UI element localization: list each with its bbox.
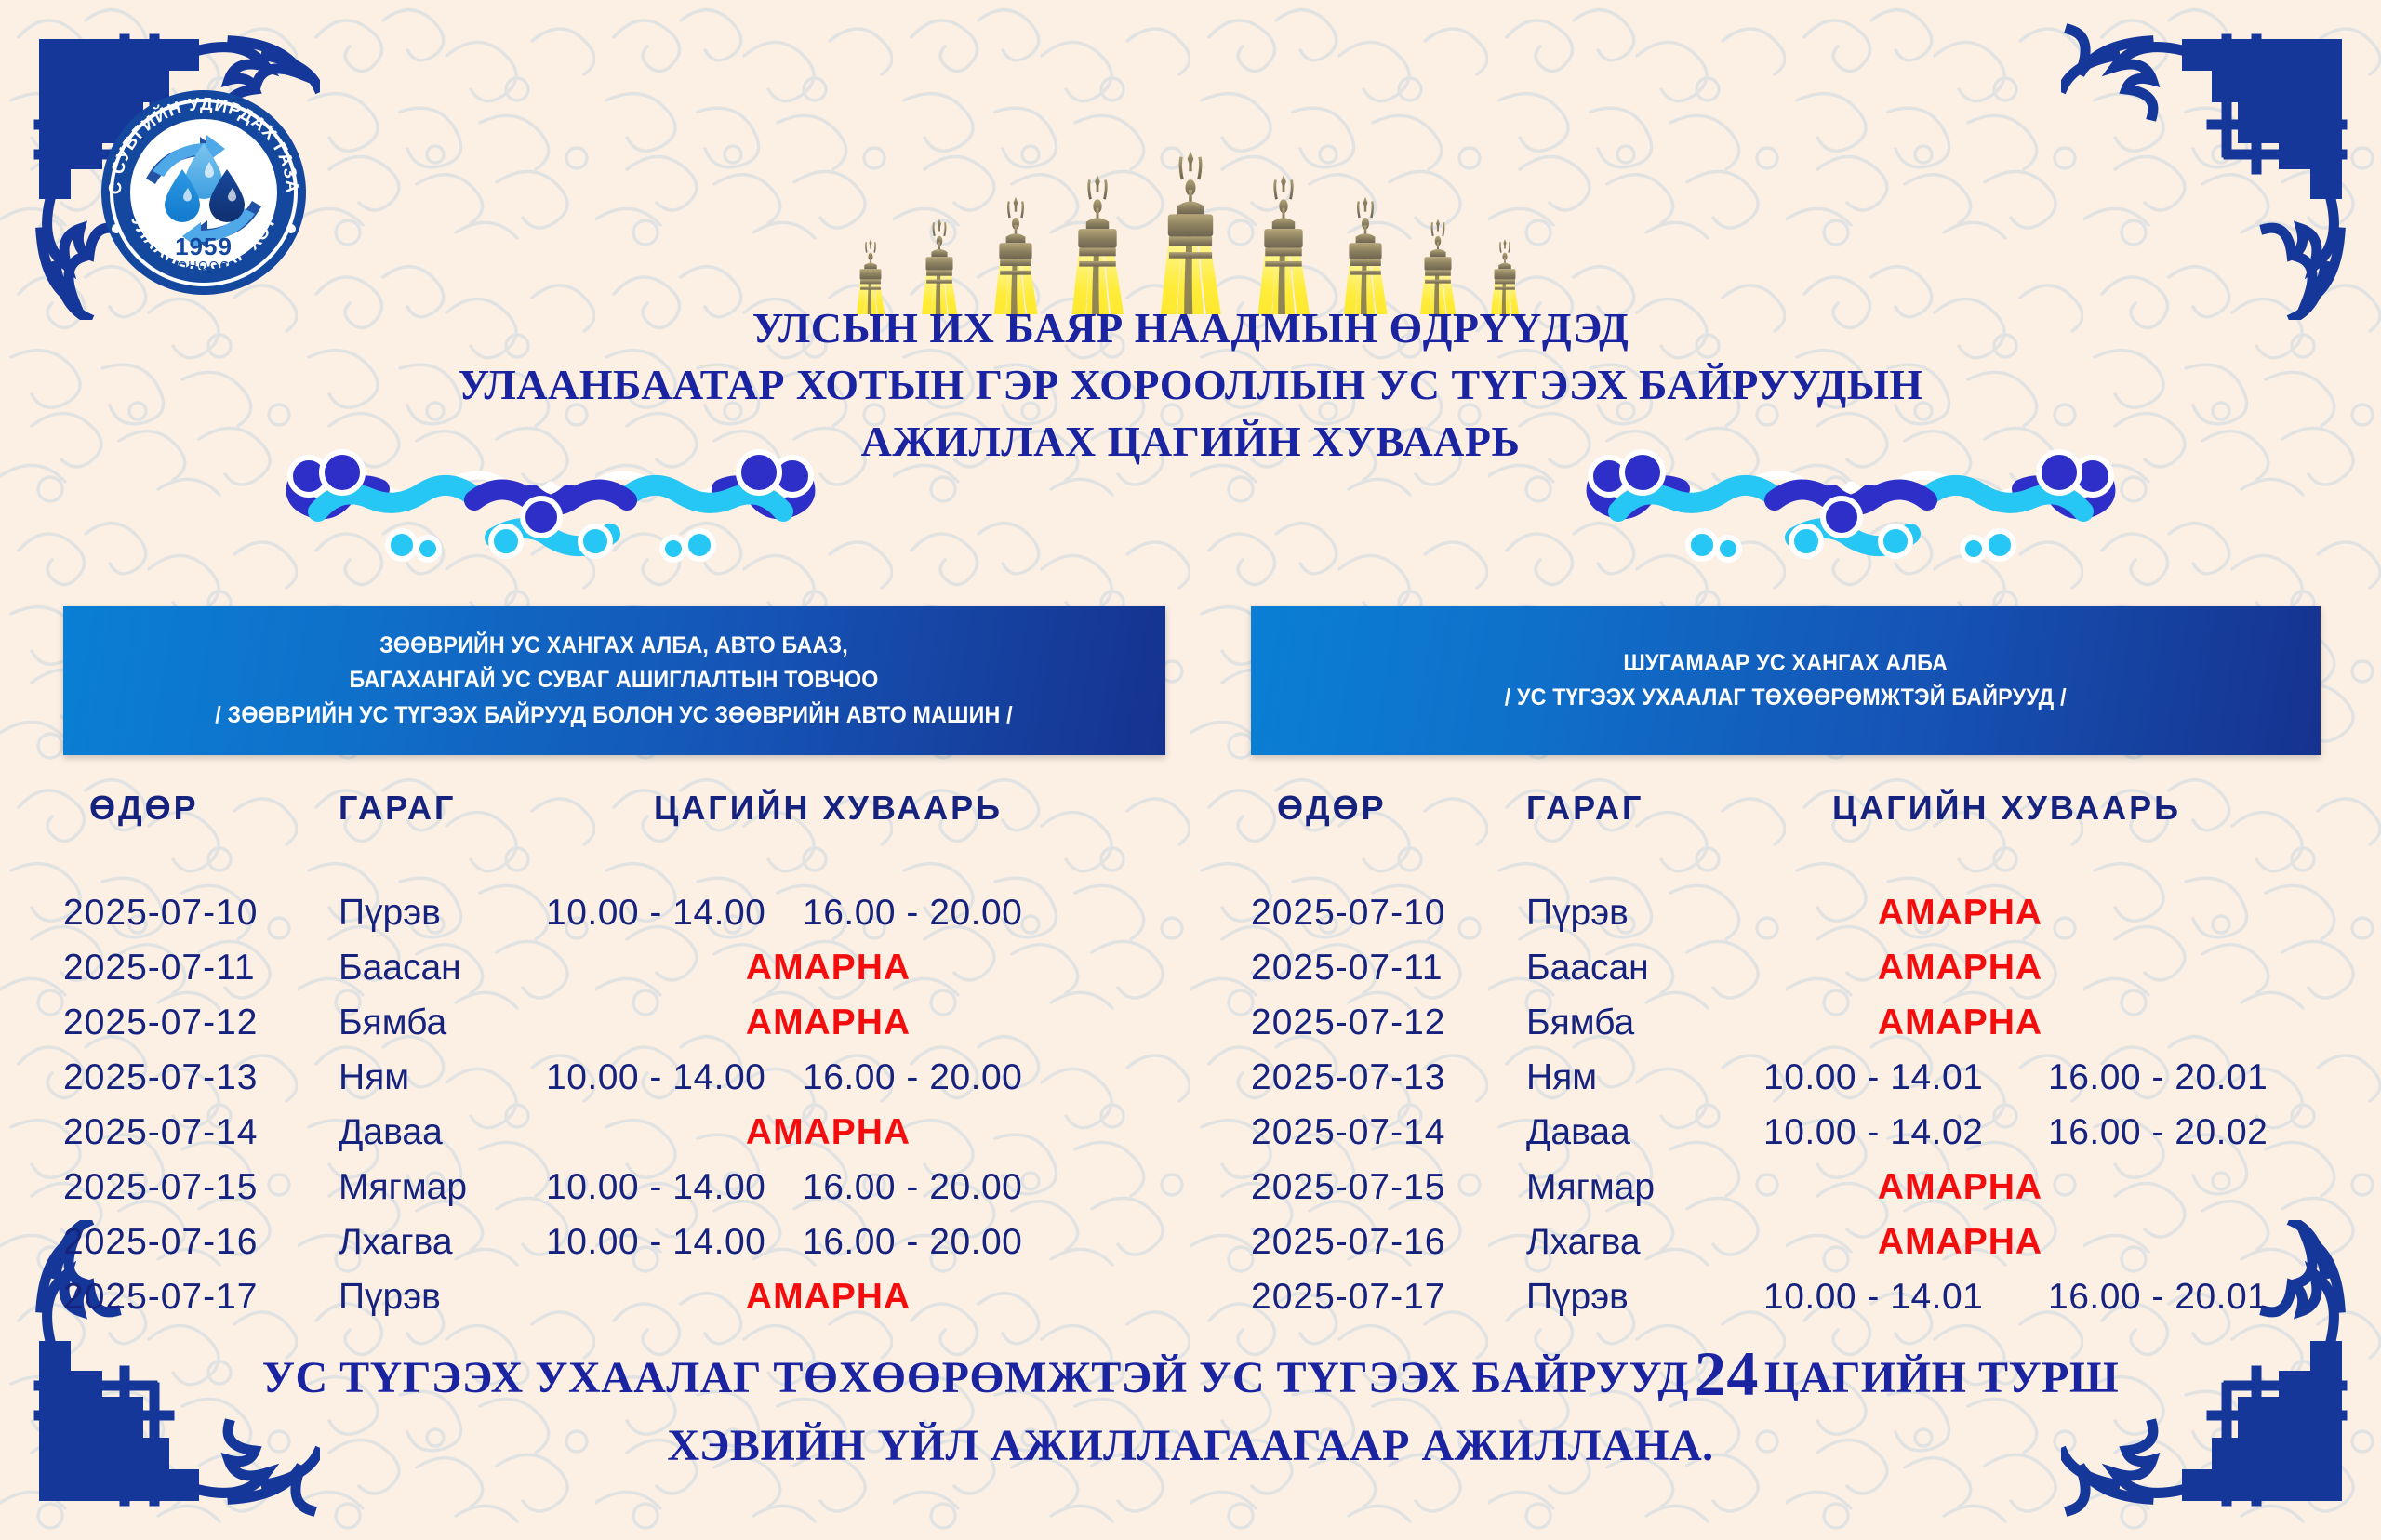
cell-schedule: 10.00 - 14.0016.00 - 20.00 bbox=[533, 1050, 1179, 1105]
cell-date: 2025-07-13 bbox=[63, 1057, 333, 1098]
cell-day: Баасан bbox=[333, 948, 533, 989]
column-header-date: ӨДӨР bbox=[1251, 789, 1521, 828]
cell-schedule: АМАРНА bbox=[1721, 940, 2348, 995]
table-row: 2025-07-15МягмарАМАРНА bbox=[1251, 1160, 2348, 1215]
cell-date: 2025-07-14 bbox=[1251, 1112, 1521, 1153]
table-row: 2025-07-16Лхагва10.00 - 14.0016.00 - 20.… bbox=[63, 1215, 1179, 1269]
schedule-table-right: ӨДӨР ГАРАГ ЦАГИЙН ХУВААРЬ 2025-07-10Пүрэ… bbox=[1251, 789, 2348, 1324]
column-header-date: ӨДӨР bbox=[63, 789, 333, 828]
cell-schedule: 10.00 - 14.0116.00 - 20.01 bbox=[1721, 1050, 2348, 1105]
cell-date: 2025-07-15 bbox=[1251, 1167, 1521, 1208]
cell-day: Мягмар bbox=[333, 1167, 533, 1208]
cell-day: Ням bbox=[1521, 1057, 1721, 1098]
cell-schedule: 10.00 - 14.0016.00 - 20.00 bbox=[533, 1215, 1179, 1269]
column-header-schedule: ЦАГИЙН ХУВААРЬ bbox=[533, 789, 1179, 828]
table-row: 2025-07-14Даваа10.00 - 14.0216.00 - 20.0… bbox=[1251, 1105, 2348, 1160]
cell-schedule: АМАРНА bbox=[1721, 885, 2348, 940]
corner-ornament-top-right bbox=[2061, 13, 2368, 320]
column-header-day: ГАРАГ bbox=[1521, 789, 1721, 828]
cell-day: Даваа bbox=[333, 1112, 533, 1153]
table-row: 2025-07-16ЛхагваАМАРНА bbox=[1251, 1215, 2348, 1269]
table-row: 2025-07-10ПүрэвАМАРНА bbox=[1251, 885, 2348, 940]
status-badge-rest: АМАРНА bbox=[533, 1002, 1124, 1043]
title-line-1: УЛСЫН ИХ БАЯР НААДМЫН ӨДРҮҮДЭД bbox=[400, 299, 1981, 356]
cell-date: 2025-07-12 bbox=[63, 1002, 333, 1043]
cell-date: 2025-07-16 bbox=[63, 1222, 333, 1263]
table-row: 2025-07-11БаасанАМАРНА bbox=[63, 940, 1179, 995]
schedule-table-left: ӨДӨР ГАРАГ ЦАГИЙН ХУВААРЬ 2025-07-10Пүрэ… bbox=[63, 789, 1179, 1324]
cell-date: 2025-07-10 bbox=[63, 893, 333, 934]
time-slot-morning: 10.00 - 14.00 bbox=[546, 1057, 765, 1098]
banner-right-line-2: / УС ТҮГЭЭХ УХААЛАГ ТӨХӨӨРӨМЖТЭЙ БАЙРУУД… bbox=[1505, 681, 2067, 716]
time-slot-evening: 16.00 - 20.02 bbox=[2048, 1112, 2268, 1153]
cell-date: 2025-07-11 bbox=[1251, 948, 1521, 989]
organization-logo: УС СУВГИЙН УДИРДАХ ГАЗАР УЛААНБААТАР ХОТ… bbox=[100, 89, 307, 296]
cell-date: 2025-07-14 bbox=[63, 1112, 333, 1153]
status-badge-rest: АМАРНА bbox=[1721, 1002, 2200, 1043]
cell-day: Пүрэв bbox=[1521, 893, 1721, 934]
cell-day: Бямба bbox=[333, 1002, 533, 1043]
cell-date: 2025-07-15 bbox=[63, 1167, 333, 1208]
footer-hours-number: 24 bbox=[1689, 1338, 1764, 1409]
cell-day: Пүрэв bbox=[333, 893, 533, 934]
time-slot-morning: 10.00 - 14.00 bbox=[546, 1167, 765, 1208]
logo-year-label: ОНООС bbox=[178, 259, 231, 272]
cell-day: Лхагва bbox=[1521, 1222, 1721, 1263]
column-header-day: ГАРАГ bbox=[333, 789, 533, 828]
cell-day: Даваа bbox=[1521, 1112, 1721, 1153]
cell-schedule: АМАРНА bbox=[533, 940, 1179, 995]
cell-day: Лхагва bbox=[333, 1222, 533, 1263]
table-row: 2025-07-12БямбаАМАРНА bbox=[1251, 995, 2348, 1050]
cell-date: 2025-07-17 bbox=[1251, 1277, 1521, 1318]
cell-date: 2025-07-13 bbox=[1251, 1057, 1521, 1098]
status-badge-rest: АМАРНА bbox=[533, 948, 1124, 989]
cell-schedule: АМАРНА bbox=[1721, 995, 2348, 1050]
cell-day: Пүрэв bbox=[333, 1277, 533, 1318]
table-row: 2025-07-12БямбаАМАРНА bbox=[63, 995, 1179, 1050]
cell-schedule: 10.00 - 14.0016.00 - 20.00 bbox=[533, 885, 1179, 940]
table-row: 2025-07-15Мягмар10.00 - 14.0016.00 - 20.… bbox=[63, 1160, 1179, 1215]
table-row: 2025-07-13Ням10.00 - 14.0016.00 - 20.00 bbox=[63, 1050, 1179, 1105]
cell-date: 2025-07-16 bbox=[1251, 1222, 1521, 1263]
table-row: 2025-07-17Пүрэв10.00 - 14.0116.00 - 20.0… bbox=[1251, 1269, 2348, 1324]
banner-right-line-1: ШУГАМААР УС ХАНГАХ АЛБА bbox=[1505, 646, 2067, 682]
table-row: 2025-07-13Ням10.00 - 14.0116.00 - 20.01 bbox=[1251, 1050, 2348, 1105]
status-badge-rest: АМАРНА bbox=[1721, 1167, 2200, 1208]
banner-left-line-3: / ЗӨӨВРИЙН УС ТҮГЭЭХ БАЙРУУД БОЛОН УС ЗӨ… bbox=[216, 698, 1013, 734]
status-badge-rest: АМАРНА bbox=[1721, 893, 2200, 934]
time-slot-evening: 16.00 - 20.00 bbox=[803, 1167, 1022, 1208]
cell-schedule: АМАРНА bbox=[1721, 1215, 2348, 1269]
column-header-schedule: ЦАГИЙН ХУВААРЬ bbox=[1721, 789, 2348, 828]
time-slot-morning: 10.00 - 14.00 bbox=[546, 893, 765, 934]
time-slot-evening: 16.00 - 20.00 bbox=[803, 1057, 1022, 1098]
status-badge-rest: АМАРНА bbox=[1721, 948, 2200, 989]
cell-schedule: 10.00 - 14.0016.00 - 20.00 bbox=[533, 1160, 1179, 1215]
cell-date: 2025-07-17 bbox=[63, 1277, 333, 1318]
cell-day: Пүрэв bbox=[1521, 1277, 1721, 1318]
table-row: 2025-07-14ДавааАМАРНА bbox=[63, 1105, 1179, 1160]
cell-day: Мягмар bbox=[1521, 1167, 1721, 1208]
time-slot-evening: 16.00 - 20.01 bbox=[2048, 1277, 2268, 1318]
section-banner-right: ШУГАМААР УС ХАНГАХ АЛБА / УС ТҮГЭЭХ УХАА… bbox=[1251, 606, 2321, 755]
wave-ornament-right bbox=[1563, 445, 2139, 575]
time-slot-evening: 16.00 - 20.00 bbox=[803, 1222, 1022, 1263]
time-slot-morning: 10.00 - 14.00 bbox=[546, 1222, 765, 1263]
cell-day: Баасан bbox=[1521, 948, 1721, 989]
table-row: 2025-07-10Пүрэв10.00 - 14.0016.00 - 20.0… bbox=[63, 885, 1179, 940]
section-banner-left: ЗӨӨВРИЙН УС ХАНГАХ АЛБА, АВТО БААЗ, БАГА… bbox=[63, 606, 1165, 755]
logo-year: 1959 bbox=[175, 232, 233, 260]
cell-date: 2025-07-12 bbox=[1251, 1002, 1521, 1043]
time-slot-morning: 10.00 - 14.02 bbox=[1763, 1112, 1983, 1153]
cell-schedule: АМАРНА bbox=[533, 1269, 1179, 1324]
title-line-2: УЛААНБААТАР ХОТЫН ГЭР ХОРООЛЛЫН УС ТҮГЭЭ… bbox=[400, 356, 1981, 413]
cell-schedule: АМАРНА bbox=[1721, 1160, 2348, 1215]
cell-date: 2025-07-11 bbox=[63, 948, 333, 989]
wave-ornament-left bbox=[262, 445, 839, 575]
time-slot-morning: 10.00 - 14.01 bbox=[1763, 1277, 1983, 1318]
status-badge-rest: АМАРНА bbox=[1721, 1222, 2200, 1263]
table-row: 2025-07-11БаасанАМАРНА bbox=[1251, 940, 2348, 995]
cell-schedule: АМАРНА bbox=[533, 995, 1179, 1050]
cell-schedule: АМАРНА bbox=[533, 1105, 1179, 1160]
cell-date: 2025-07-10 bbox=[1251, 893, 1521, 934]
footer-line-1-before: УС ТҮГЭЭХ УХААЛАГ ТӨХӨӨРӨМЖТЭЙ УС ТҮГЭЭХ… bbox=[262, 1353, 1689, 1402]
banner-left-line-1: ЗӨӨВРИЙН УС ХАНГАХ АЛБА, АВТО БААЗ, bbox=[216, 629, 1013, 664]
banner-left-line-2: БАГАХАНГАЙ УС СУВАГ АШИГЛАЛТЫН ТОВЧОО bbox=[216, 663, 1013, 698]
time-slot-evening: 16.00 - 20.01 bbox=[2048, 1057, 2268, 1098]
cell-day: Бямба bbox=[1521, 1002, 1721, 1043]
table-row: 2025-07-17ПүрэвАМАРНА bbox=[63, 1269, 1179, 1324]
time-slot-morning: 10.00 - 14.01 bbox=[1763, 1057, 1983, 1098]
status-badge-rest: АМАРНА bbox=[533, 1112, 1124, 1153]
time-slot-evening: 16.00 - 20.00 bbox=[803, 893, 1022, 934]
footer-notice: УС ТҮГЭЭХ УХААЛАГ ТӨХӨӨРӨМЖТЭЙ УС ТҮГЭЭХ… bbox=[186, 1332, 2195, 1476]
cell-day: Ням bbox=[333, 1057, 533, 1098]
footer-line-1-after: ЦАГИЙН ТУРШ bbox=[1764, 1353, 2119, 1402]
table-right-header-row: ӨДӨР ГАРАГ ЦАГИЙН ХУВААРЬ bbox=[1251, 789, 2348, 869]
cell-schedule: 10.00 - 14.0216.00 - 20.02 bbox=[1721, 1105, 2348, 1160]
status-badge-rest: АМАРНА bbox=[533, 1277, 1124, 1318]
cell-schedule: 10.00 - 14.0116.00 - 20.01 bbox=[1721, 1269, 2348, 1324]
footer-line-2: ХЭВИЙН ҮЙЛ АЖИЛЛАГААГААР АЖИЛЛАНА. bbox=[186, 1416, 2195, 1476]
table-left-header-row: ӨДӨР ГАРАГ ЦАГИЙН ХУВААРЬ bbox=[63, 789, 1179, 869]
nine-white-banners-decoration bbox=[818, 7, 1563, 314]
